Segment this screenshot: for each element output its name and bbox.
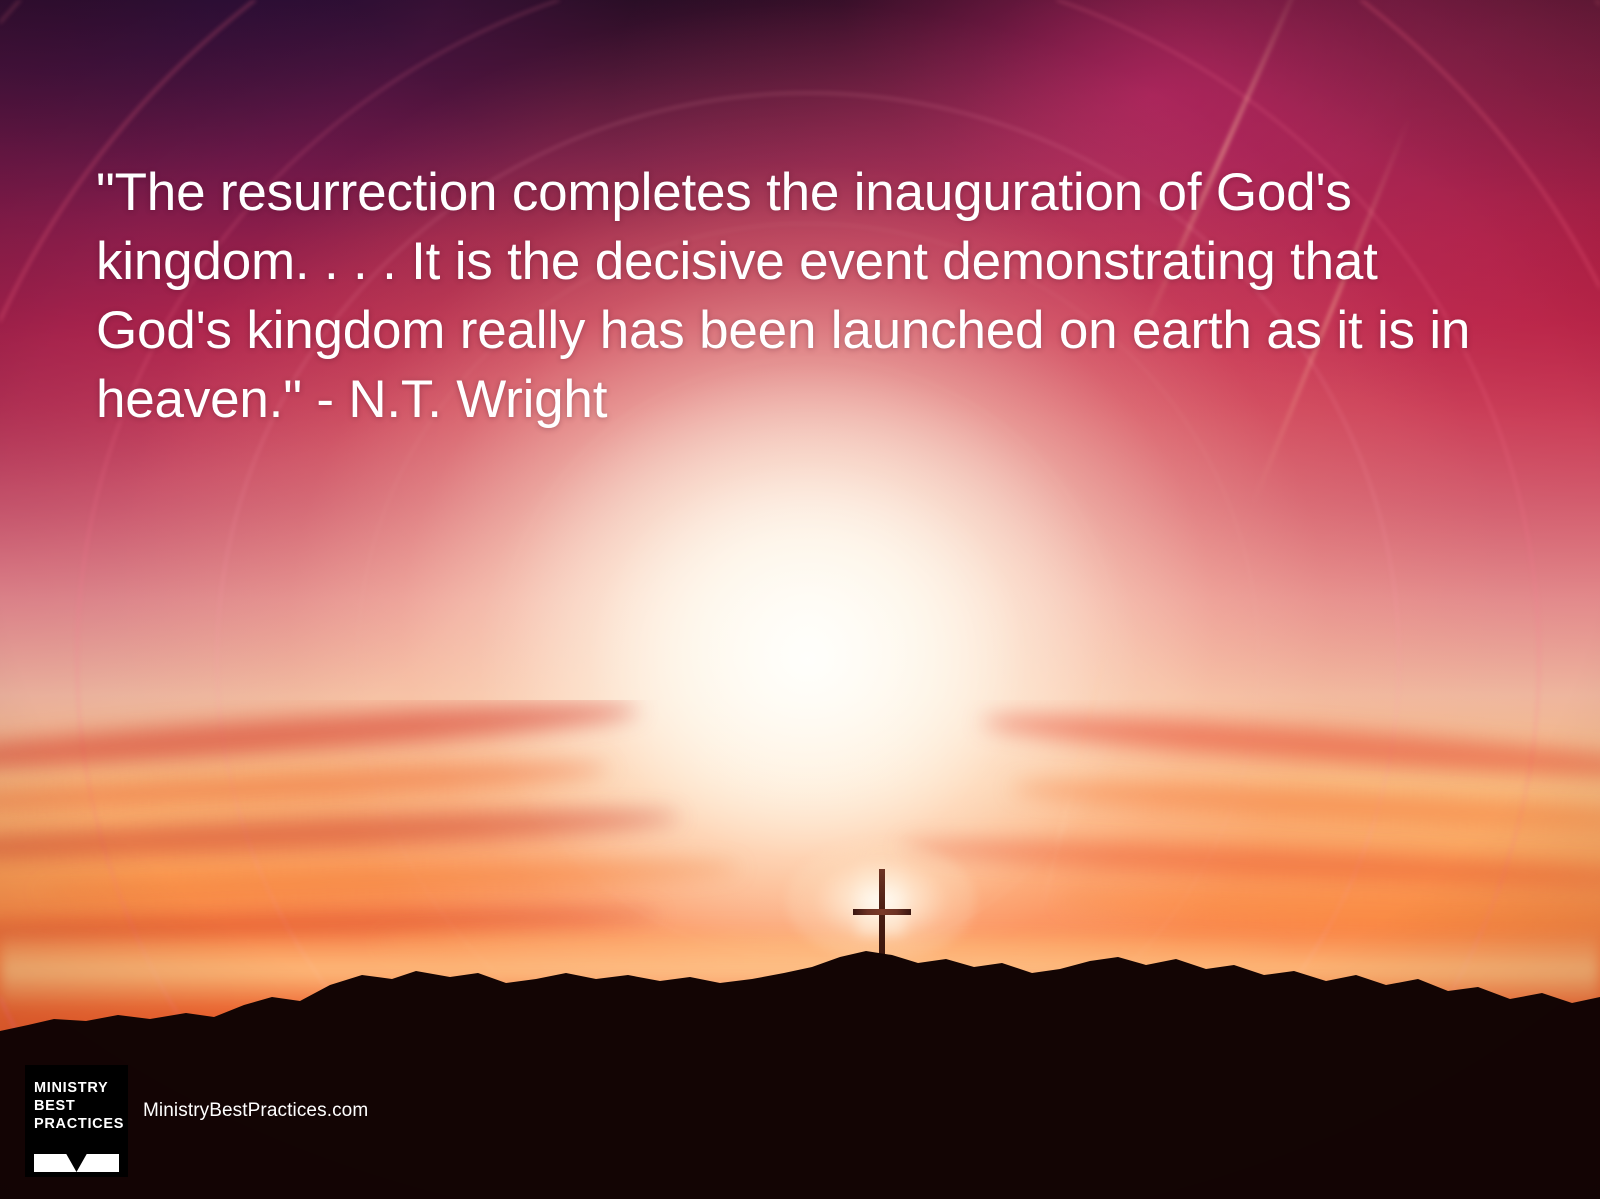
quote-poster: "The resurrection completes the inaugura… (0, 0, 1600, 1199)
ground-silhouette (0, 939, 1600, 1199)
ridge-shape (0, 939, 1600, 1199)
logo-wordmark: MINISTRY BEST PRACTICES (34, 1079, 124, 1133)
ministry-best-practices-logo[interactable]: MINISTRY BEST PRACTICES (25, 1065, 128, 1177)
cross-horizontal-beam (853, 909, 911, 915)
quote-text: "The resurrection completes the inaugura… (96, 158, 1496, 434)
website-url[interactable]: MinistryBestPractices.com (143, 1100, 368, 1122)
